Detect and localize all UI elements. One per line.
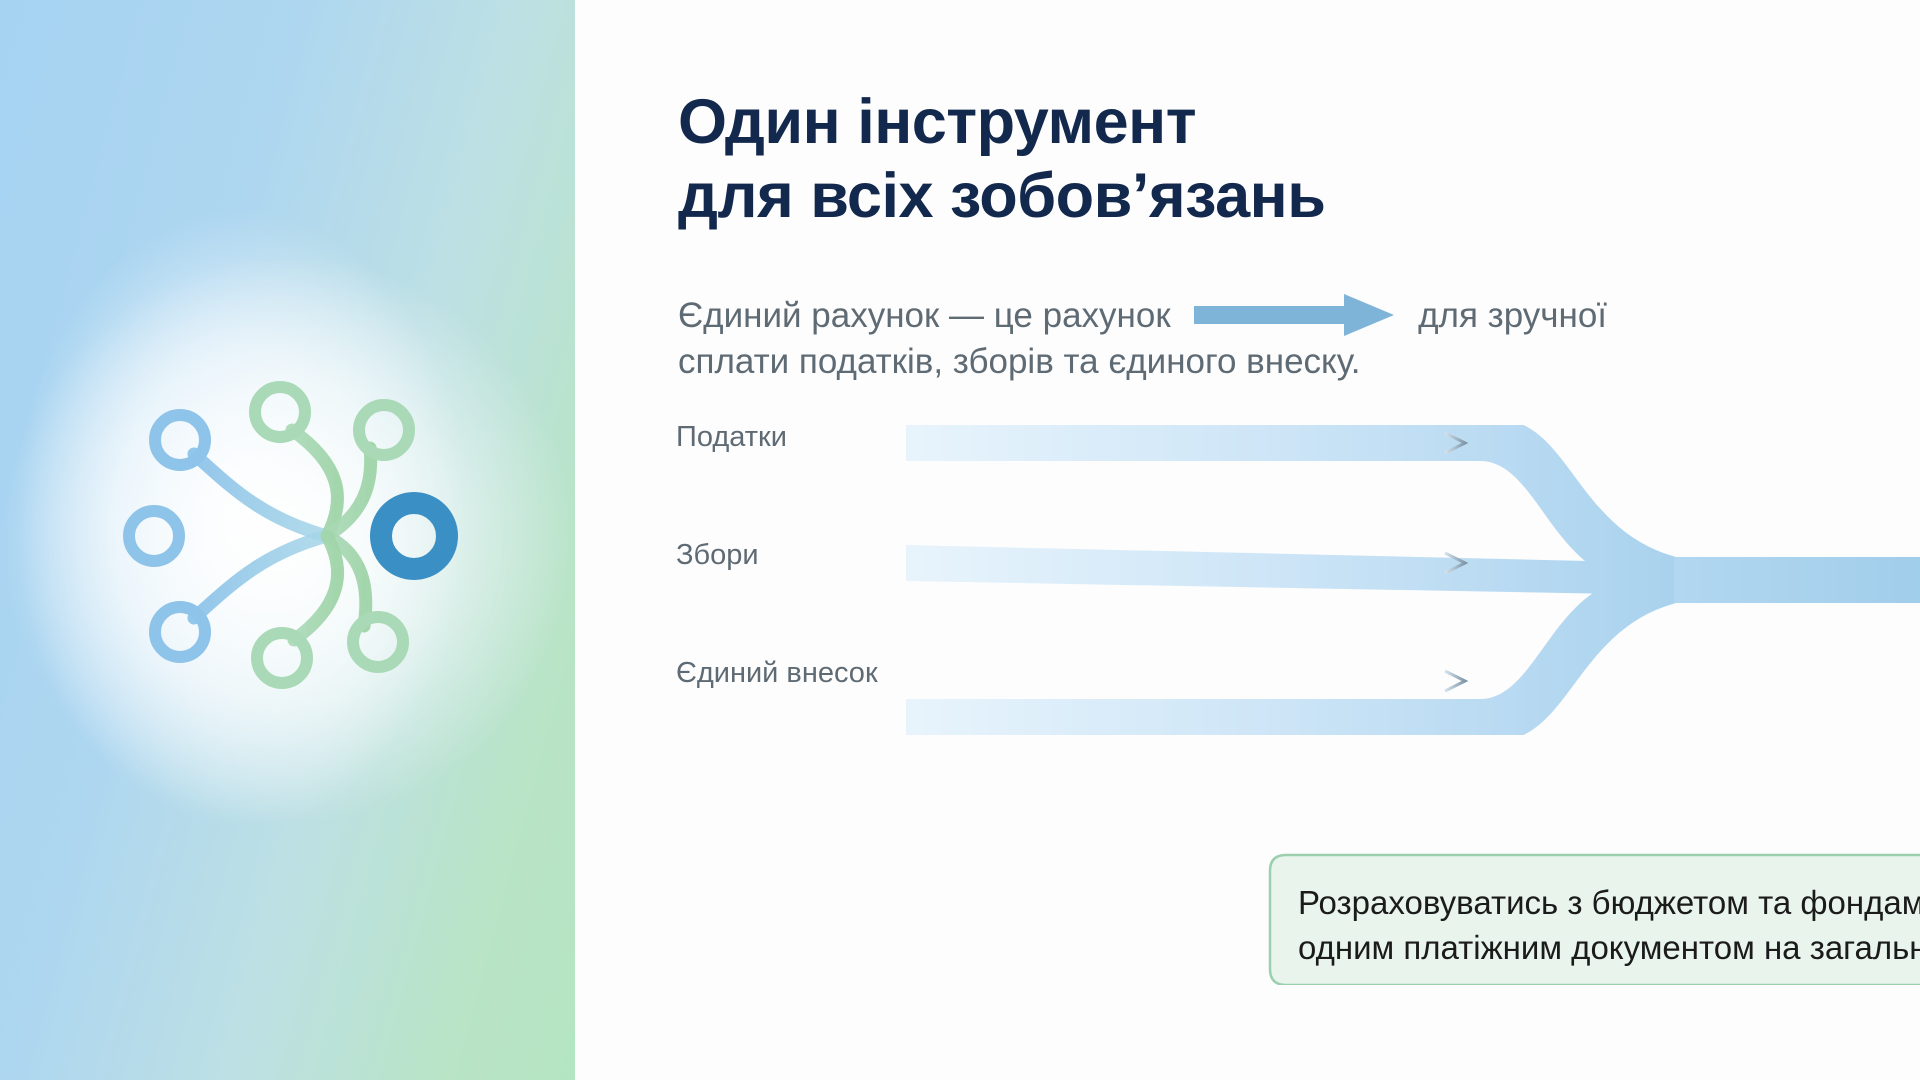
left-decorative-panel bbox=[0, 0, 575, 1080]
subtitle-before-arrow: Єдиний рахунок — це рахунок bbox=[678, 296, 1171, 335]
subtitle-line-2: сплати податків, зборів та єдиного внеск… bbox=[678, 339, 1808, 385]
callout-line-2: одним платіжним документом на загальну с… bbox=[1298, 929, 1920, 966]
subtitle-line-1: Єдиний рахунок — це рахунок для зручної bbox=[678, 293, 1808, 339]
infographic-slide: Один інструментдля всіх зобов’язань Єдин… bbox=[0, 0, 1920, 1080]
callout-box: Розраховуватись з бюджетом та фондами те… bbox=[1254, 845, 1920, 985]
flow-ribbons bbox=[670, 425, 1920, 735]
callout-line-1: Розраховуватись з бюджетом та фондами те… bbox=[1298, 884, 1920, 921]
title-line-1: Один інструмент bbox=[678, 87, 1196, 157]
subtitle: Єдиний рахунок — це рахунок для зручної … bbox=[678, 293, 1808, 385]
page-title: Один інструментдля всіх зобов’язань bbox=[678, 86, 1325, 233]
subtitle-after-arrow: для зручної bbox=[1418, 296, 1607, 335]
right-arrow-icon bbox=[1194, 294, 1394, 336]
content-panel: Один інструментдля всіх зобов’язань Єдин… bbox=[575, 0, 1920, 1080]
callout-text: Розраховуватись з бюджетом та фондами те… bbox=[1298, 881, 1920, 971]
title-line-2: для всіх зобов’язань bbox=[678, 161, 1325, 231]
converging-network-hub-icon bbox=[112, 368, 462, 704]
flow-diagram: Податки Збори Єдиний внесок bbox=[670, 425, 1920, 735]
